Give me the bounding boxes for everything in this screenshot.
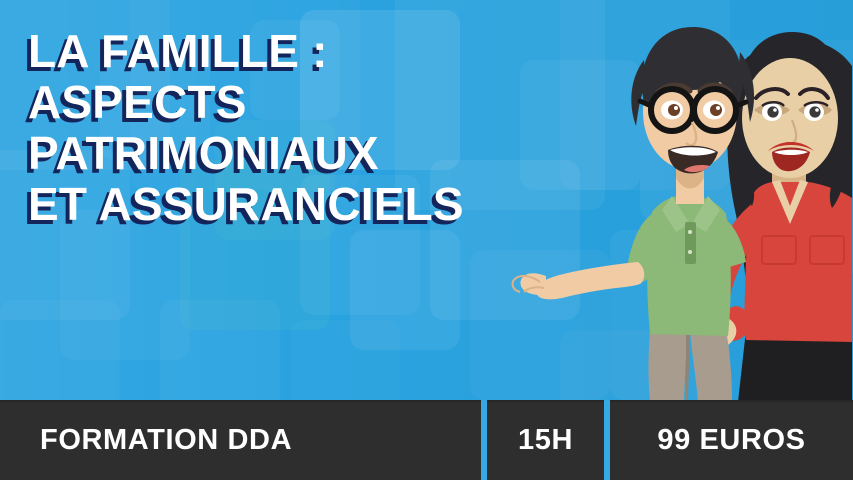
footer-bar: FORMATION DDA 15H 99 EUROS (0, 400, 853, 480)
footer-item-formation: FORMATION DDA (0, 400, 481, 480)
page-title: LA FAMILLE : ASPECTS PATRIMONIAUX ET ASS… (28, 26, 648, 230)
video-thumbnail-banner: LA FAMILLE : ASPECTS PATRIMONIAUX ET ASS… (0, 0, 853, 480)
price-label: 99 EUROS (657, 424, 805, 457)
footer-item-duration: 15H (487, 400, 604, 480)
footer-item-price: 99 EUROS (610, 400, 853, 480)
duration-label: 15H (518, 424, 573, 457)
formation-label: FORMATION DDA (40, 424, 292, 457)
